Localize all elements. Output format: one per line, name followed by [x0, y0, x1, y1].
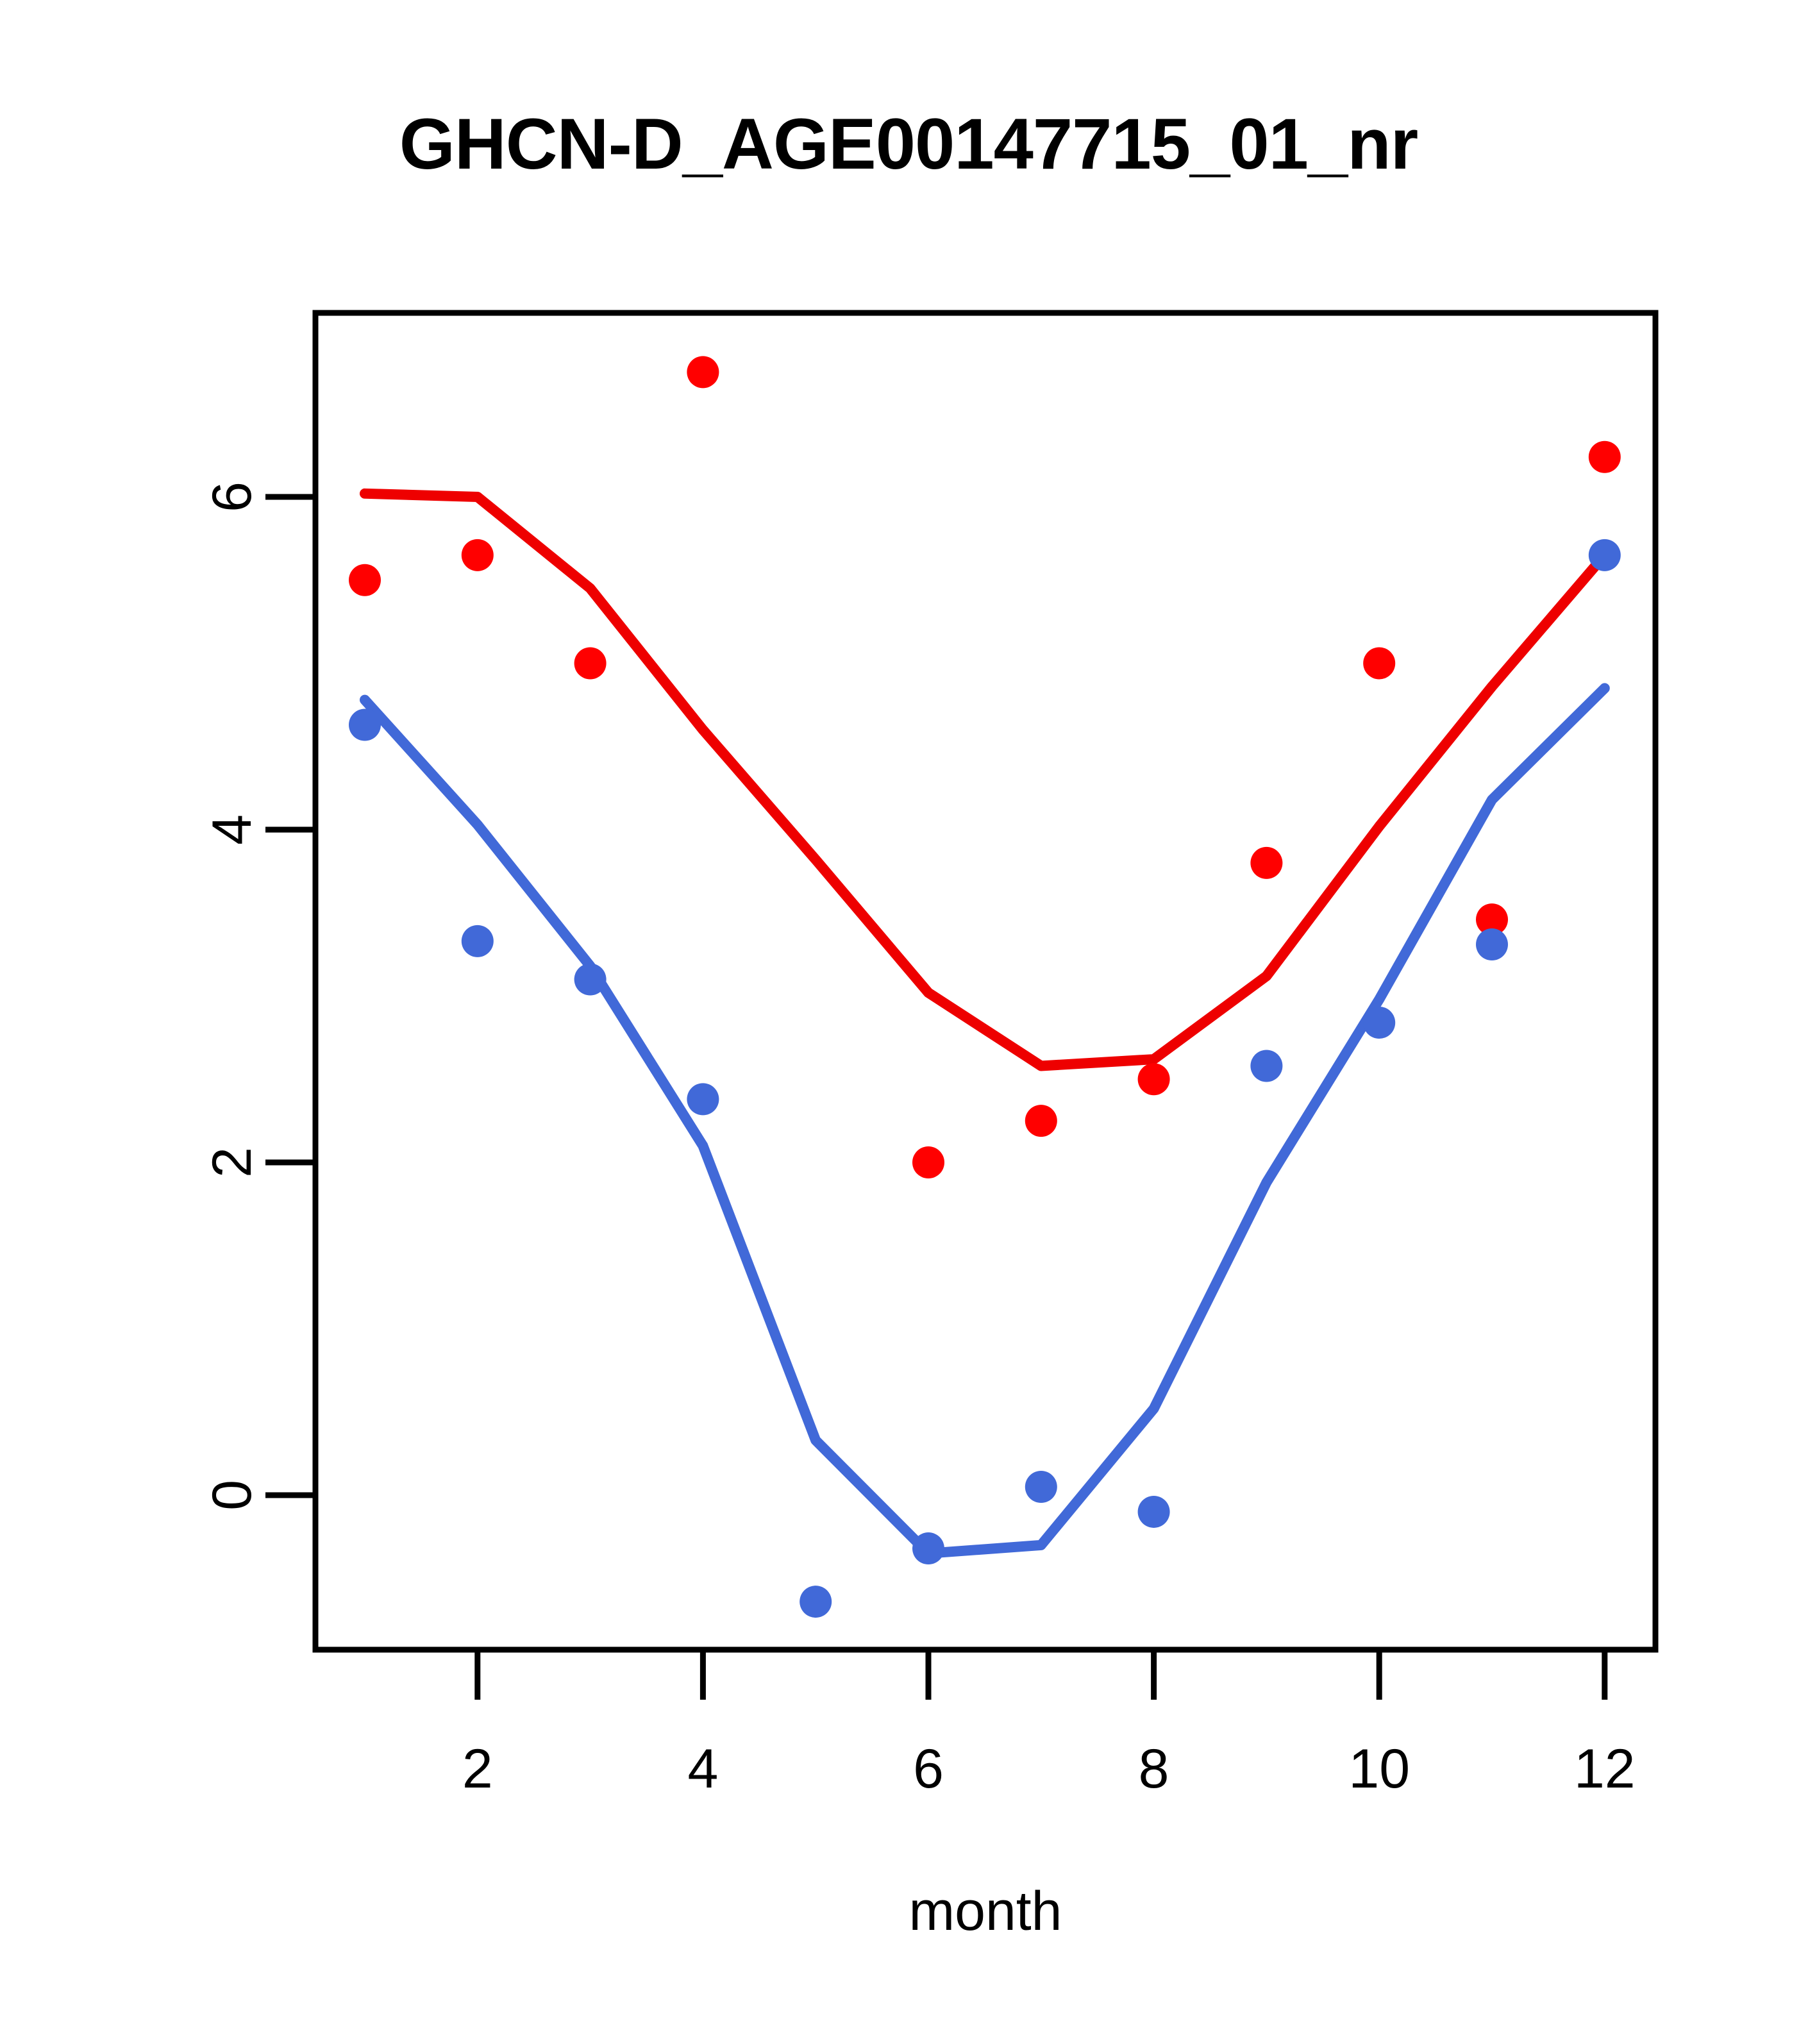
data-point-blue-points	[1363, 1007, 1395, 1039]
data-point-blue-points	[1476, 928, 1508, 960]
x-tick-label: 6	[913, 1738, 944, 1800]
plot-frame	[315, 313, 1655, 1650]
data-point-blue-points	[349, 709, 381, 741]
x-tick-label: 12	[1574, 1738, 1636, 1800]
data-point-red-points	[1589, 441, 1621, 473]
y-tick-label: 2	[201, 1147, 263, 1178]
y-axis-tick-labels: 0246	[201, 482, 263, 1511]
data-point-blue-points	[1025, 1471, 1057, 1503]
y-tick-label: 4	[201, 814, 263, 845]
x-tick-label: 2	[462, 1738, 493, 1800]
x-tick-label: 4	[687, 1738, 718, 1800]
data-point-blue-points	[1250, 1050, 1282, 1082]
series-layer	[349, 356, 1621, 1618]
data-point-red-points	[574, 648, 607, 680]
data-point-blue-points	[800, 1586, 832, 1618]
data-point-red-points	[1138, 1063, 1170, 1095]
data-point-blue-points	[462, 925, 494, 957]
x-axis-ticks	[478, 1650, 1605, 1700]
x-axis-title: month	[908, 1881, 1062, 1942]
data-point-blue-points	[1138, 1496, 1170, 1528]
y-tick-label: 6	[201, 482, 263, 512]
data-point-red-points	[1250, 847, 1282, 879]
x-tick-label: 10	[1348, 1738, 1410, 1800]
y-axis-ticks	[265, 497, 315, 1495]
plot-box	[315, 313, 1655, 1650]
data-point-blue-points	[574, 964, 607, 996]
series-line-blue-line	[365, 688, 1605, 1553]
data-point-red-points	[912, 1146, 944, 1178]
x-tick-label: 8	[1139, 1738, 1169, 1800]
data-point-red-points	[349, 564, 381, 596]
data-point-red-points	[1025, 1105, 1057, 1137]
data-point-blue-points	[912, 1532, 944, 1564]
data-point-red-points	[462, 539, 494, 571]
data-point-red-points	[1363, 648, 1395, 680]
data-point-blue-points	[687, 1083, 719, 1115]
data-point-red-points	[687, 356, 719, 388]
x-axis-tick-labels: 24681012	[462, 1738, 1636, 1800]
plot-canvas: 24681012 0246 month	[0, 0, 1817, 2044]
series-line-red-line	[365, 494, 1605, 1066]
y-tick-label: 0	[201, 1480, 263, 1511]
figure-root: GHCN-D_AGE00147715_01_nr 24681012 0246 m…	[0, 0, 1817, 2044]
data-point-blue-points	[1589, 539, 1621, 571]
